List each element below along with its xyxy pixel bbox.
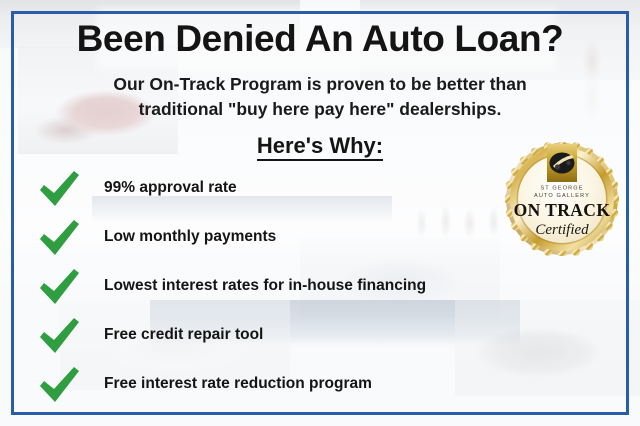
list-item: Free interest rate reduction program xyxy=(36,359,556,408)
seal-dealer-line-1: ST GEORGE xyxy=(540,186,583,192)
page-title: Been Denied An Auto Loan? xyxy=(0,18,640,60)
ad-content: Been Denied An Auto Loan? Our On-Track P… xyxy=(0,0,640,426)
subheading-line-1: Our On-Track Program is proven to be bet… xyxy=(113,74,526,94)
subheading: Our On-Track Program is proven to be bet… xyxy=(70,72,570,122)
list-item: Lowest interest rates for in-house finan… xyxy=(36,261,556,310)
list-item: 99% approval rate xyxy=(36,163,556,212)
list-item-label: Low monthly payments xyxy=(104,228,276,246)
auto-loan-ad-graphic: Been Denied An Auto Loan? Our On-Track P… xyxy=(0,0,640,426)
car-emblem-icon xyxy=(547,144,577,182)
list-item-label: Free credit repair tool xyxy=(104,326,263,344)
list-item: Low monthly payments xyxy=(36,212,556,261)
seal-program-label: ON TRACK xyxy=(514,200,611,220)
check-icon xyxy=(36,264,82,308)
list-item-label: 99% approval rate xyxy=(104,179,237,197)
check-icon xyxy=(36,362,82,406)
section-heading-label: Here's Why: xyxy=(257,133,383,161)
certified-seal-badge: ST GEORGE AUTO GALLERY ON TRACK Certifie… xyxy=(505,142,619,256)
check-icon xyxy=(36,313,82,357)
list-item: Free credit repair tool xyxy=(36,310,556,359)
seal-dealer-line-2: AUTO GALLERY xyxy=(534,193,590,199)
subheading-line-2: traditional "buy here pay here" dealersh… xyxy=(70,97,570,122)
check-icon xyxy=(36,166,82,210)
list-item-label: Lowest interest rates for in-house finan… xyxy=(104,277,426,295)
seal-certified-label: Certified xyxy=(535,222,589,238)
check-icon xyxy=(36,215,82,259)
benefits-list: 99% approval rate Low monthly payments L… xyxy=(36,163,556,408)
list-item-label: Free interest rate reduction program xyxy=(104,375,372,393)
